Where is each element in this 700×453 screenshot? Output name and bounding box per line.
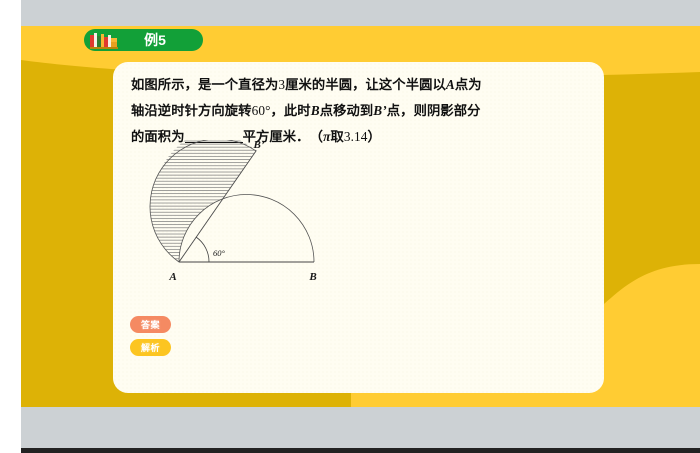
question-line-1: 如图所示，是一个直径为3厘米的半圆，让这个半圆以A点为 — [131, 72, 589, 98]
figure-label-angle: 60° — [213, 248, 226, 258]
question-line-2: 轴沿逆时针方向旋转60°，此时B点移动到B’点，则阴影部分 — [131, 98, 589, 124]
books-icon — [89, 32, 121, 49]
figure-label-B-prime: B’ — [253, 140, 265, 151]
example-badge: 例5 — [84, 29, 203, 51]
top-toolbar-band — [21, 0, 700, 26]
figure-svg: A B B’ 60° — [133, 140, 328, 290]
shaded-region — [133, 140, 315, 290]
left-margin — [0, 0, 21, 453]
geometry-figure: A B B’ 60° — [133, 140, 328, 290]
show-analysis-button[interactable]: 解析 — [130, 339, 171, 356]
question-card: 如图所示，是一个直径为3厘米的半圆，让这个半圆以A点为 轴沿逆时针方向旋转60°… — [113, 62, 604, 393]
figure-label-A: A — [168, 271, 176, 283]
example-badge-label: 例5 — [121, 29, 203, 51]
question-text: 如图所示，是一个直径为3厘米的半圆，让这个半圆以A点为 轴沿逆时针方向旋转60°… — [131, 72, 589, 150]
show-answer-button[interactable]: 答案 — [130, 316, 171, 333]
bottom-dark-strip — [21, 448, 700, 453]
figure-label-B: B — [308, 271, 316, 283]
slide-viewer: 例5 如图所示，是一个直径为3厘米的半圆，让这个半圆以A点为 轴沿逆时针方向旋转… — [0, 0, 700, 453]
bottom-toolbar-band — [21, 407, 700, 448]
